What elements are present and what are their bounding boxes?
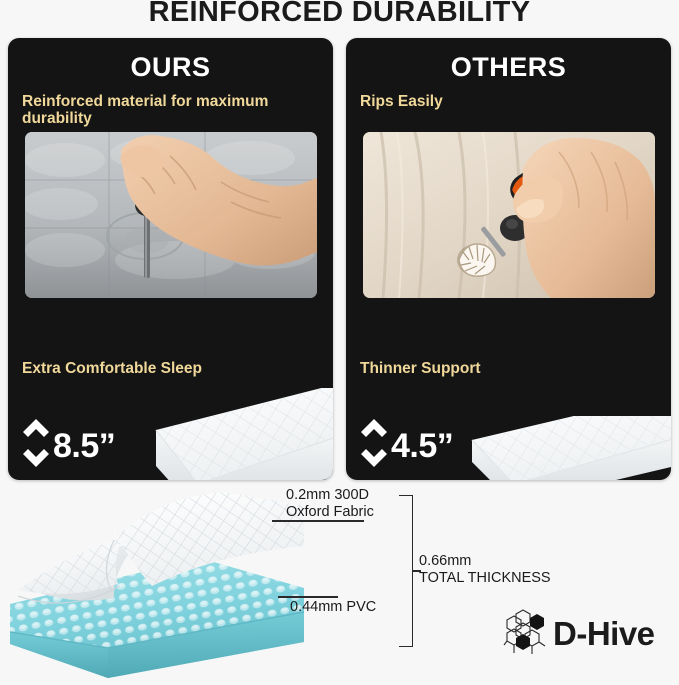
thickness-value-ours: 8.5” <box>53 429 115 463</box>
total-thickness-bracket <box>399 495 413 647</box>
panel-ours: OURS Reinforced material for maximum dur… <box>8 38 333 480</box>
panel-heading-others: OTHERS <box>346 52 671 83</box>
logo-wordmark: D-Hive <box>553 617 655 650</box>
page-title: REINFORCED DURABILITY <box>0 0 679 29</box>
photo-ours-durability <box>25 132 317 298</box>
label-total-line2: TOTAL THICKNESS <box>419 570 551 586</box>
chevron-stack-ours <box>22 418 50 473</box>
label-oxford-line1: 0.2mm 300D <box>286 487 369 503</box>
thickness-row-ours: 8.5” <box>22 418 115 473</box>
chevron-up-icon <box>360 418 388 443</box>
chevron-down-icon <box>22 448 50 473</box>
comparison-panels: OURS Reinforced material for maximum dur… <box>8 38 671 480</box>
panel-others: OTHERS Rips Easily <box>346 38 671 480</box>
brand-logo: D-Hive <box>503 608 655 658</box>
honeycomb-icon <box>503 608 549 658</box>
thickness-caption-others: Thinner Support <box>360 360 481 378</box>
leader-line-oxford <box>272 520 364 522</box>
chevron-stack-others <box>360 418 388 473</box>
label-pvc: 0.44mm PVC <box>290 599 376 616</box>
thickness-value-others: 4.5” <box>391 429 453 463</box>
layer-stack-illustration <box>4 492 304 678</box>
panel-caption-others: Rips Easily <box>360 93 620 110</box>
thickness-row-others: 4.5” <box>360 418 453 473</box>
label-oxford-line2: Oxford Fabric <box>286 504 374 520</box>
label-total-line1: 0.66mm <box>419 553 471 569</box>
photo-others-rip <box>363 132 655 298</box>
chevron-up-icon <box>22 418 50 443</box>
leader-line-pvc <box>278 596 338 598</box>
label-oxford-fabric: 0.2mm 300D Oxford Fabric <box>286 487 374 520</box>
panel-heading-ours: OURS <box>8 52 333 83</box>
chevron-down-icon <box>360 448 388 473</box>
mattress-illustration-ours <box>120 388 333 480</box>
label-total-thickness: 0.66mm TOTAL THICKNESS <box>419 553 551 586</box>
thickness-caption-ours: Extra Comfortable Sleep <box>22 360 202 378</box>
panel-caption-ours: Reinforced material for maximum durabili… <box>22 93 282 127</box>
mattress-illustration-others <box>454 416 671 480</box>
